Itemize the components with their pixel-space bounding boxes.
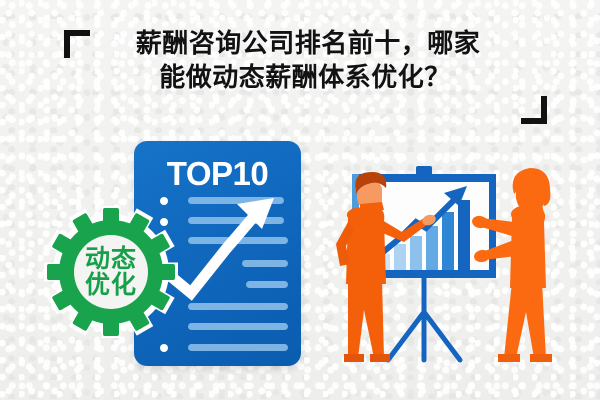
chart-bar (410, 236, 422, 270)
chart-bar (458, 200, 470, 270)
poster-canvas: 薪酬咨询公司排名前十，哪家 能做动态薪酬体系优化？ TOP10 (0, 0, 600, 400)
presentation-illustration (330, 160, 585, 370)
chart-bar (394, 244, 406, 270)
headline-line-1: 薪酬咨询公司排名前十，哪家 (0, 26, 600, 60)
gear-label-line-1: 动态 (85, 246, 137, 272)
gear-badge-label: 动态 优化 (44, 206, 178, 338)
board-clip-icon (416, 166, 432, 178)
page-title: 薪酬咨询公司排名前十，哪家 能做动态薪酬体系优化？ (0, 26, 600, 94)
chart-bar (426, 226, 438, 270)
chart-bar (442, 212, 454, 270)
headline-line-2: 能做动态薪酬体系优化？ (0, 60, 600, 94)
tripod-stand (388, 270, 460, 360)
gear-label-line-2: 优化 (85, 272, 137, 298)
quote-bracket-bottom-right (521, 96, 547, 124)
